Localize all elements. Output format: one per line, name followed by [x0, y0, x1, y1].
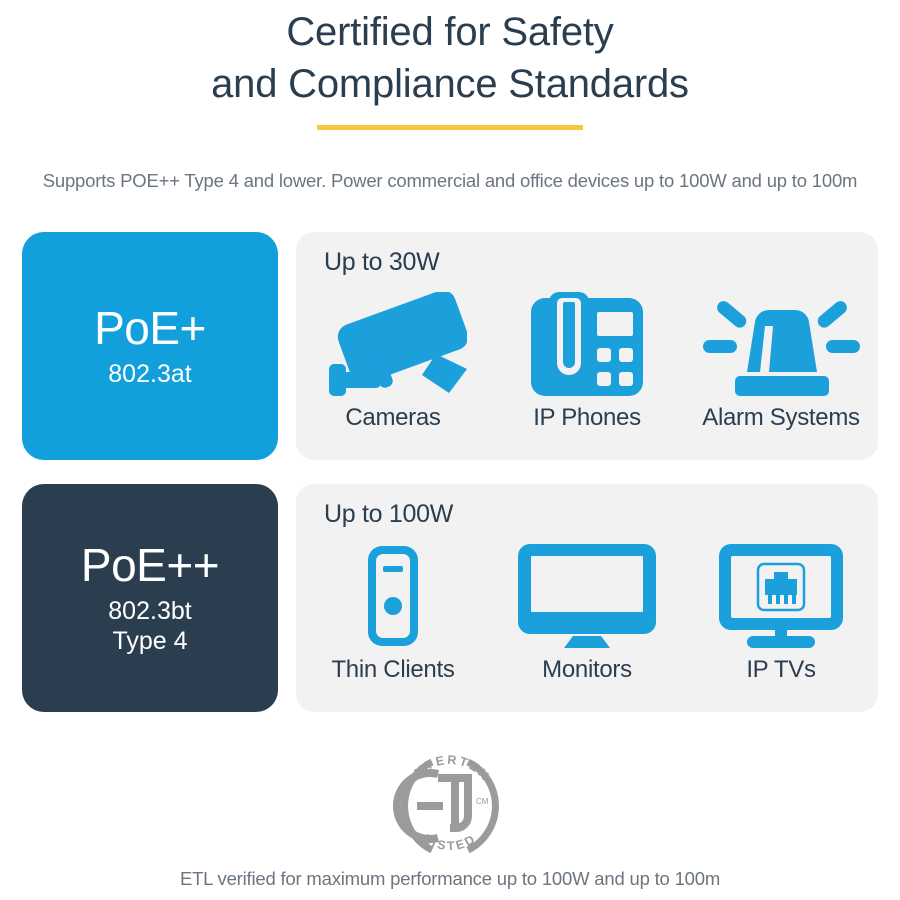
poe-plus-standard: 802.3at — [108, 359, 191, 389]
device-label-monitors: Monitors — [542, 656, 632, 684]
device-cameras: Cameras — [296, 290, 490, 432]
accent-divider — [317, 125, 583, 130]
page-title-line-1: Certified for Safety — [0, 6, 900, 58]
page-title-line-2: and Compliance Standards — [0, 58, 900, 110]
alarm-siren-icon — [701, 290, 861, 398]
subtitle-text: Supports POE++ Type 4 and lower. Power c… — [0, 170, 900, 192]
device-label-alarm-systems: Alarm Systems — [702, 404, 859, 432]
poe-plus-plus-badge-card: PoE++ 802.3bt Type 4 — [22, 484, 278, 712]
etl-logo: CM INTERTEK LISTED — [0, 748, 900, 864]
poe-plus-plus-title: PoE++ — [81, 540, 219, 590]
poe-plus-plus-standard-line-1: 802.3bt — [108, 596, 191, 626]
poe-plus-power-label: Up to 30W — [324, 248, 439, 277]
ip-phone-icon — [531, 290, 643, 398]
poe-plus-plus-devices-panel: Up to 100W — [296, 484, 878, 712]
poe-plus-plus-standard: 802.3bt Type 4 — [108, 596, 191, 656]
poe-plus-devices-panel: Up to 30W Cameras — [296, 232, 878, 460]
monitor-icon — [518, 542, 656, 650]
device-ip-tvs: IP TVs — [684, 542, 878, 684]
thin-client-icon — [362, 542, 424, 650]
poe-plus-plus-power-label: Up to 100W — [324, 500, 453, 529]
poe-plus-row: PoE+ 802.3at Up to 30W — [22, 232, 878, 460]
security-camera-icon — [319, 290, 467, 398]
poe-plus-plus-row: PoE++ 802.3bt Type 4 Up to 100W — [22, 484, 878, 712]
ip-tv-icon — [719, 542, 843, 650]
device-label-ip-phones: IP Phones — [533, 404, 641, 432]
device-label-thin-clients: Thin Clients — [331, 656, 454, 684]
etl-superscript-text: CM — [476, 797, 489, 806]
device-label-cameras: Cameras — [345, 404, 440, 432]
device-label-ip-tvs: IP TVs — [746, 656, 815, 684]
header: Certified for Safety and Compliance Stan… — [0, 0, 900, 192]
poe-plus-badge-card: PoE+ 802.3at — [22, 232, 278, 460]
poe-plus-device-grid: Cameras — [296, 290, 878, 432]
etl-listed-mark: CM INTERTEK LISTED — [392, 748, 508, 864]
device-monitors: Monitors — [490, 542, 684, 684]
device-ip-phones: IP Phones — [490, 290, 684, 432]
footer-note: ETL verified for maximum performance up … — [0, 868, 900, 890]
poe-plus-title: PoE+ — [94, 303, 206, 353]
poe-plus-plus-device-grid: Thin Clients Monitors — [296, 542, 878, 684]
device-alarm-systems: Alarm Systems — [684, 290, 878, 432]
device-thin-clients: Thin Clients — [296, 542, 490, 684]
poe-plus-plus-standard-line-2: Type 4 — [108, 626, 191, 656]
